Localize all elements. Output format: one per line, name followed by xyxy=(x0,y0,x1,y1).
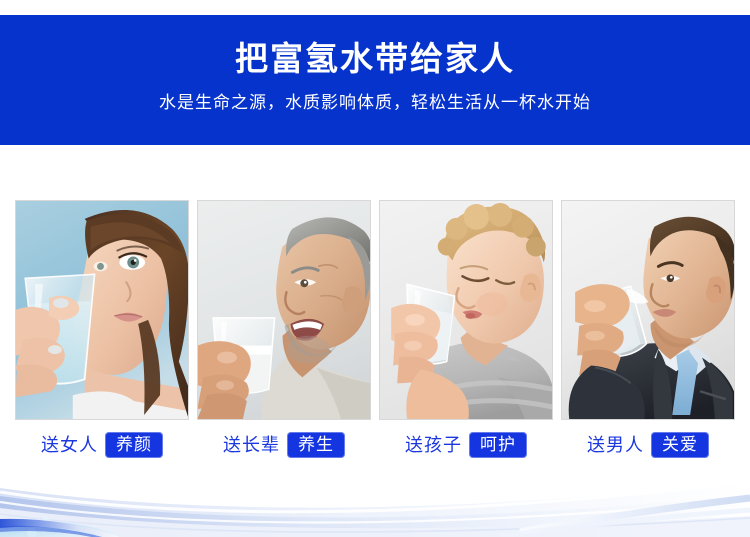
photo-grid xyxy=(15,200,735,420)
caption-child: 送孩子 呵护 xyxy=(379,428,553,462)
photo-woman-drinking xyxy=(16,201,188,419)
photo-man-drinking xyxy=(562,201,734,419)
photo-card-elder[interactable] xyxy=(197,200,371,420)
caption-label: 送男人 xyxy=(587,435,644,455)
caption-label: 送孩子 xyxy=(405,435,462,455)
status-badge: 呵护 xyxy=(469,432,527,458)
caption-woman: 送女人 养颜 xyxy=(15,428,189,462)
caption-elder: 送长辈 养生 xyxy=(197,428,371,462)
hero-banner: 把富氢水带给家人 水是生命之源，水质影响体质，轻松生活从一杯水开始 xyxy=(0,15,750,145)
photo-card-man[interactable] xyxy=(561,200,735,420)
promo-page: 把富氢水带给家人 水是生命之源，水质影响体质，轻松生活从一杯水开始 xyxy=(0,0,750,537)
status-badge: 关爱 xyxy=(651,432,709,458)
caption-label: 送女人 xyxy=(41,435,98,455)
status-badge: 养颜 xyxy=(105,432,163,458)
status-badge: 养生 xyxy=(287,432,345,458)
caption-man: 送男人 关爱 xyxy=(561,428,735,462)
photo-elder-drinking xyxy=(198,201,370,419)
caption-row: 送女人 养颜 送长辈 养生 送孩子 呵护 送男人 关爱 xyxy=(15,428,735,462)
photo-card-woman[interactable] xyxy=(15,200,189,420)
banner-subtitle: 水是生命之源，水质影响体质，轻松生活从一杯水开始 xyxy=(0,79,750,114)
wave-decoration xyxy=(0,462,750,537)
photo-child-drinking xyxy=(380,201,552,419)
photo-card-child[interactable] xyxy=(379,200,553,420)
page-title: 把富氢水带给家人 xyxy=(0,15,750,79)
caption-label: 送长辈 xyxy=(223,435,280,455)
